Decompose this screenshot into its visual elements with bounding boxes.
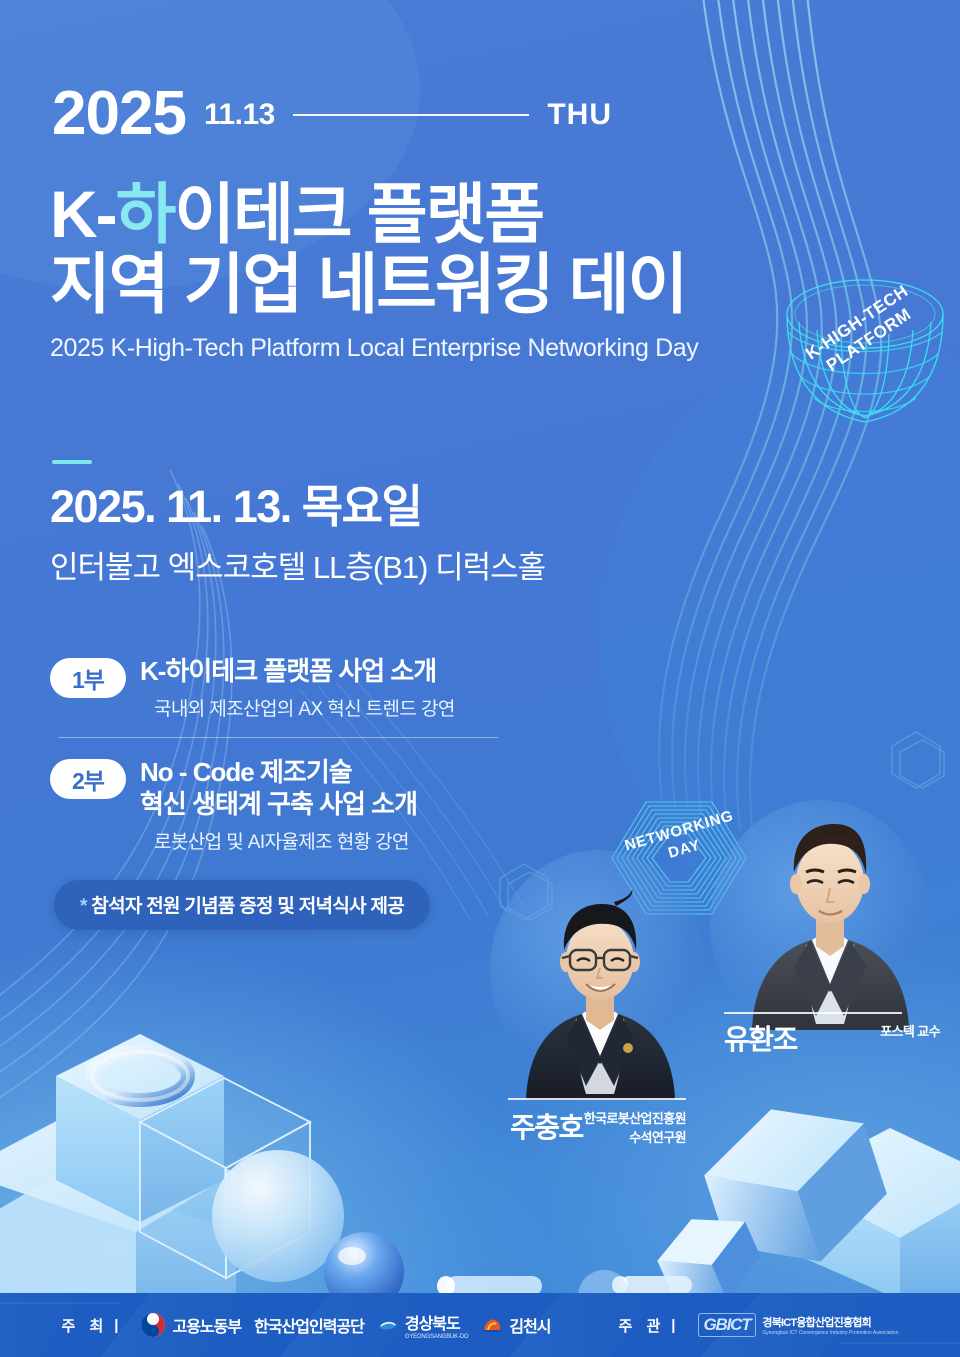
footer-org-gyeongbuk-name: 경상북도 bbox=[405, 1316, 460, 1333]
footer-host-group: 고용노동부 한국산업인력공단 경상북도 GYEONGSANGBUK-DO bbox=[140, 1310, 550, 1341]
footer-org-gbict: GBICT 경북ICT융합산업진흥협회 Gyeongbuk ICT Conver… bbox=[698, 1313, 899, 1337]
program-badge-1: 1부 bbox=[50, 658, 126, 698]
year-text: 2025 bbox=[52, 86, 186, 142]
torus-shape bbox=[92, 1052, 188, 1100]
title-seg-mid: 이테크 bbox=[174, 177, 367, 251]
footer-bar: 주 최 | 고용노동부 한국산업인력공단 bbox=[0, 1293, 960, 1357]
footer-org-gyeongbuk-sub: GYEONGSANGBUK-DO bbox=[405, 1334, 468, 1341]
program-section: 1부 K-하이테크 플랫폼 사업 소개 국내외 제조산업의 AX 혁신 트렌드 … bbox=[50, 655, 520, 930]
event-venue: 인터불고 엑스코호텔 LL층(B1) 디럭스홀 bbox=[50, 542, 690, 587]
program-badge-2: 2부 bbox=[50, 759, 126, 799]
footer-org-gimcheon-name: 김천시 bbox=[509, 1313, 550, 1337]
program-text-1: K-하이테크 플랫폼 사업 소개 국내외 제조산업의 AX 혁신 트렌드 강연 bbox=[140, 655, 520, 721]
note-pill: * 참석자 전원 기념품 증정 및 저녁식사 제공 bbox=[54, 880, 430, 930]
program-text-2: No - Code 제조기술 혁신 생태계 구축 사업 소개 로봇산업 및 AI… bbox=[140, 756, 520, 854]
program-subtitle-1: 국내외 제조산업의 AX 혁신 트렌드 강연 bbox=[154, 694, 520, 721]
date-short-text: 11.13 bbox=[204, 98, 275, 132]
speaker-card-1: 주충호 한국로봇산업진흥원 수석연구원 bbox=[480, 830, 720, 1130]
program-title-2-line2: 혁신 생태계 구축 사업 소개 bbox=[140, 788, 520, 821]
gyeongbuk-icon bbox=[377, 1316, 399, 1334]
header-divider-line bbox=[293, 114, 529, 116]
speaker-1-org: 한국로봇산업진흥원 수석연구원 bbox=[566, 1110, 686, 1148]
footer-org-gbict-name-en: Gyeongbuk ICT Convergence Industry Promo… bbox=[762, 1330, 898, 1336]
title-seg-k: K- bbox=[50, 177, 116, 251]
glass-shapes-left bbox=[0, 1034, 542, 1312]
speaker-2-portrait-icon bbox=[744, 812, 916, 1030]
title-seg-platform: 플랫폼 bbox=[367, 177, 543, 251]
k-high-tech-platform-badge: K-HIGH-TECH PLATFORM bbox=[772, 262, 958, 434]
footer-content: 주 최 | 고용노동부 한국산업인력공단 bbox=[0, 1293, 960, 1357]
event-date: 2025. 11. 13. 목요일 bbox=[50, 482, 690, 532]
speaker-card-2: 유환조 포스텍 교수 bbox=[700, 790, 950, 1070]
accent-dash bbox=[52, 460, 92, 464]
speaker-2-divider bbox=[724, 1012, 902, 1014]
footer-org-molab-name: 고용노동부 bbox=[172, 1313, 241, 1337]
day-of-week-text: THU bbox=[547, 98, 612, 132]
title-line-2: 지역 기업 네트워킹 데이 bbox=[50, 250, 790, 320]
footer-host-separator: | bbox=[114, 1317, 118, 1334]
footer-org-gbict-name: 경북ICT융합산업진흥협회 bbox=[762, 1317, 871, 1329]
subtitle-english: 2025 K-High-Tech Platform Local Enterpri… bbox=[50, 334, 790, 363]
footer-org-hrdk: 한국산업인력공단 bbox=[254, 1313, 364, 1337]
footer-org-molab: 고용노동부 bbox=[140, 1312, 241, 1338]
footer-organizer-separator: | bbox=[671, 1317, 675, 1334]
program-title-2-line1: No - Code 제조기술 bbox=[140, 757, 352, 787]
gimcheon-icon bbox=[481, 1316, 503, 1334]
program-item-1: 1부 K-하이테크 플랫폼 사업 소개 국내외 제조산업의 AX 혁신 트렌드 … bbox=[50, 655, 520, 721]
footer-org-gyeongbuk: 경상북도 GYEONGSANGBUK-DO bbox=[377, 1310, 468, 1341]
title-seg-accent-1: 하 bbox=[116, 177, 175, 251]
speaker-1-portrait-icon bbox=[516, 888, 684, 1100]
cylinder-shape-right bbox=[612, 1276, 692, 1294]
program-title-1: K-하이테크 플랫폼 사업 소개 bbox=[140, 656, 436, 686]
speaker-1-photo bbox=[516, 888, 684, 1100]
taegeuk-icon bbox=[140, 1312, 166, 1338]
date-venue-block: 2025. 11. 13. 목요일 인터불고 엑스코호텔 LL층(B1) 디럭스… bbox=[50, 482, 690, 587]
speaker-2-org: 포스텍 교수 bbox=[832, 1023, 940, 1042]
gbict-logo-mark: GBICT bbox=[698, 1313, 757, 1337]
title-line-1: K-하이테크 플랫폼 bbox=[50, 180, 790, 250]
speaker-2-name: 유환조 bbox=[724, 1018, 797, 1058]
footer-org-gimcheon: 김천시 bbox=[481, 1313, 550, 1337]
footer-org-hrdk-name: 한국산업인력공단 bbox=[254, 1313, 364, 1337]
mesh-cylinder-icon bbox=[772, 262, 958, 434]
note-star: * bbox=[80, 896, 87, 917]
program-divider bbox=[58, 737, 498, 738]
speaker-1-divider bbox=[508, 1098, 686, 1100]
footer-org-gbict-text: 경북ICT융합산업진흥협회 Gyeongbuk ICT Convergence … bbox=[762, 1314, 898, 1336]
event-poster: 2025 11.13 THU K-하이테크 플랫폼 지역 기업 네트워킹 데이 … bbox=[0, 0, 960, 1357]
note-text: 참석자 전원 기념품 증정 및 저녁식사 제공 bbox=[91, 896, 404, 917]
speaker-2-photo bbox=[744, 812, 916, 1030]
program-item-2: 2부 No - Code 제조기술 혁신 생태계 구축 사업 소개 로봇산업 및… bbox=[50, 756, 520, 854]
footer-organizer-label: 주 관 bbox=[619, 1315, 666, 1336]
title-block: K-하이테크 플랫폼 지역 기업 네트워킹 데이 2025 K-High-Tec… bbox=[50, 180, 790, 363]
footer-org-gyeongbuk-text: 경상북도 GYEONGSANGBUK-DO bbox=[405, 1310, 468, 1341]
program-subtitle-2: 로봇산업 및 AI자율제조 현황 강연 bbox=[154, 827, 520, 854]
header-date-row: 2025 11.13 THU bbox=[52, 86, 612, 142]
footer-host-label: 주 최 bbox=[62, 1315, 109, 1336]
